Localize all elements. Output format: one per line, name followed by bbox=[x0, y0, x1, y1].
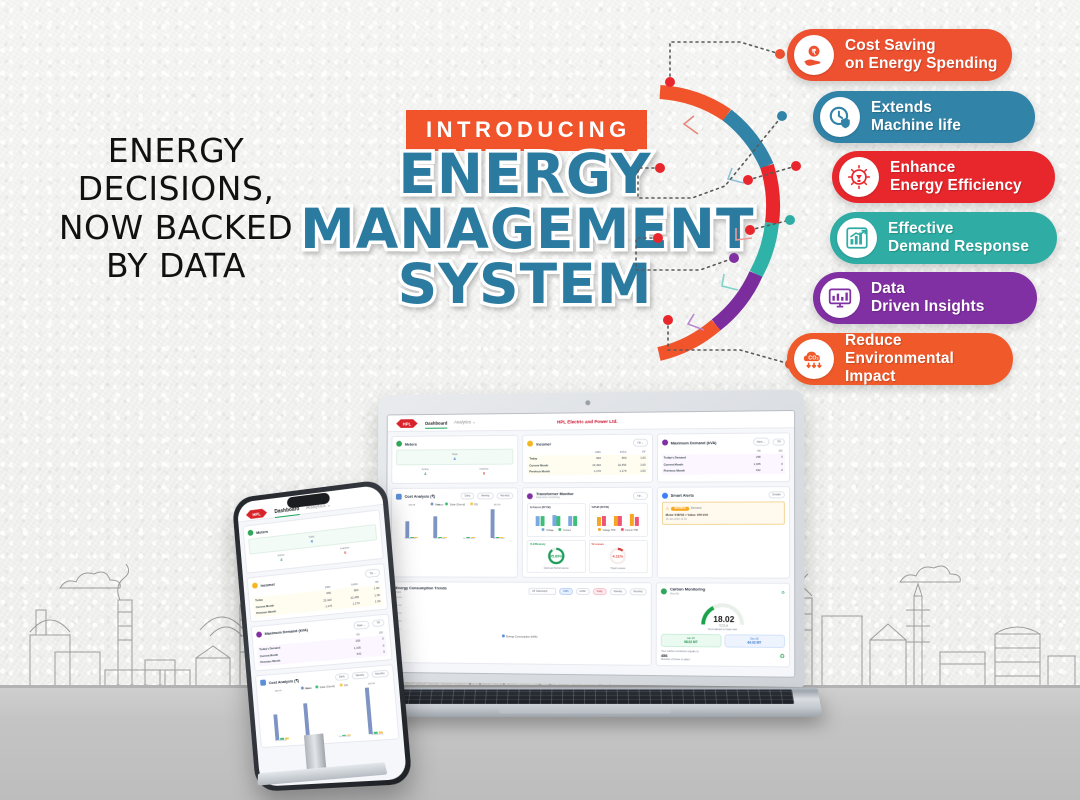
svg-text:HPL: HPL bbox=[403, 421, 412, 426]
card-energy-trends: Energy Consumption Trends 2026 All Gatew… bbox=[390, 581, 652, 666]
meters-inactive-value: 0 bbox=[457, 471, 510, 476]
energy-trends-chart bbox=[402, 598, 441, 632]
smart-alerts-details-button[interactable]: Details bbox=[768, 491, 785, 498]
svg-text:95.89%: 95.89% bbox=[550, 554, 564, 558]
card-maximum-demand: Maximum Demand (kVA) Main ⌄ TR TRDG Toda… bbox=[251, 613, 393, 671]
dashboard-row-1: Meters Total 4 Active 4 bbox=[391, 432, 790, 484]
feature-pill-enhance-energy-efficiency[interactable]: Enhance Energy Efficiency bbox=[832, 151, 1055, 203]
laptop-screen: HPL Dashboard Analytics ⌄ HPL Electric a… bbox=[385, 410, 795, 678]
feature-line-1: Effective bbox=[888, 220, 1029, 238]
nav-analytics[interactable]: Analytics ⌄ bbox=[454, 419, 476, 425]
dashboard-row-3: Energy Consumption Trends 2026 All Gatew… bbox=[390, 581, 790, 667]
svg-text:CO₂: CO₂ bbox=[808, 356, 819, 362]
gauge-shield-icon bbox=[820, 97, 860, 137]
maximum-demand-icon bbox=[662, 439, 668, 445]
card-title: Carbon Monitoring bbox=[670, 587, 705, 592]
card-carbon-monitoring: Carbon Monitoring Monthly ⚙ bbox=[656, 583, 790, 668]
card-meters: Meters Total 4 Active4 Inactive0 bbox=[242, 509, 383, 573]
dashboard-body: Meters Total 4 Active 4 bbox=[386, 428, 794, 672]
phone-device: HPL Dashboard Analytics ⌄ Meters bbox=[240, 488, 400, 788]
transformer-selector[interactable]: TR ⌄ bbox=[633, 492, 648, 500]
alert-message: Motor 548732 > Value: 250 kVA bbox=[666, 512, 781, 516]
md-selector-tr[interactable]: TR bbox=[773, 438, 785, 445]
meters-active: Active 4 bbox=[396, 465, 455, 479]
feature-pill-extends-machine-life[interactable]: Extends Machine life bbox=[813, 91, 1035, 143]
feature-pill-label: Data Driven Insights bbox=[871, 280, 998, 316]
svg-text:18.02: 18.02 bbox=[713, 615, 735, 624]
settings-gear-icon[interactable]: ⚙ bbox=[781, 590, 785, 595]
card-subtitle: Real-time monitoring bbox=[536, 497, 560, 500]
card-incomer: Incomer TR ⌄ kWh kVAh PF bbox=[522, 434, 652, 484]
gateway-select[interactable]: All Gateways bbox=[528, 588, 556, 595]
feature-line-2: on Energy Spending bbox=[845, 55, 998, 73]
laptop-lid: HPL Dashboard Analytics ⌄ HPL Electric a… bbox=[377, 390, 805, 688]
card-title: Incomer bbox=[536, 441, 551, 446]
feature-pill-data-driven-insights[interactable]: Data Driven Insights bbox=[813, 272, 1037, 324]
svg-text:4.11%: 4.11% bbox=[612, 555, 623, 559]
feature-pill-cost-saving[interactable]: ₹ Cost Saving on Energy Spending bbox=[787, 29, 1012, 81]
alert-badge: WARNING bbox=[671, 506, 689, 510]
kfactor-chart: K-Factor (R/Y/B) Voltage bbox=[527, 503, 586, 537]
card-title: Energy Consumption Trends bbox=[395, 585, 446, 590]
headline-line-1: ENERGY bbox=[30, 132, 322, 170]
card-maximum-demand: Maximum Demand (kVA) Main ⌄ TR TR bbox=[657, 432, 790, 482]
page-headline: ENERGY DECISIONS, NOW BACKED BY DATA bbox=[30, 132, 322, 285]
carbon-stat-right: Dec-25 64.02 MT bbox=[724, 635, 785, 649]
tab-daily[interactable]: Daily bbox=[593, 588, 607, 595]
legend-item: DG bbox=[340, 683, 349, 688]
card-title: Cost Analysis (₹) bbox=[269, 677, 300, 684]
trackpad[interactable] bbox=[499, 705, 671, 713]
incomer-selector[interactable]: TR ⌄ bbox=[365, 568, 380, 578]
feature-line-2: Demand Response bbox=[888, 238, 1029, 256]
meters-total-value: 4 bbox=[400, 456, 510, 462]
unit-kvah[interactable]: kVAh bbox=[576, 588, 590, 595]
headline-line-4: BY DATA bbox=[30, 247, 322, 285]
headline-line-2: DECISIONS, bbox=[30, 170, 322, 208]
card-subtitle: Monthly bbox=[670, 592, 679, 595]
laptop-base bbox=[357, 687, 822, 716]
maximum-demand-table: TR DG Today's Demand 258 0 bbox=[662, 449, 785, 475]
connector-dots bbox=[653, 49, 801, 369]
tab-monthly[interactable]: Monthly bbox=[629, 588, 646, 595]
phone-stand bbox=[254, 728, 385, 799]
maximum-demand-icon bbox=[256, 631, 262, 637]
stand-neck bbox=[304, 733, 326, 769]
meters-inactive: Inactive 0 bbox=[455, 465, 514, 479]
smart-alerts-icon bbox=[662, 492, 668, 498]
feature-line-1: Enhance bbox=[890, 159, 1022, 177]
alert-tag: Demand bbox=[691, 507, 701, 510]
feature-pill-label: Effective Demand Response bbox=[888, 220, 1043, 256]
co2-cloud-icon: CO₂ bbox=[794, 339, 834, 379]
company-title: HPL Electric and Power Ltd. bbox=[388, 417, 794, 426]
feature-line-1: Extends bbox=[871, 99, 961, 117]
feature-line-1: Cost Saving bbox=[845, 37, 998, 55]
tab-weekly[interactable]: Weekly bbox=[351, 671, 368, 679]
feature-pill-effective-demand-response[interactable]: Effective Demand Response bbox=[830, 212, 1057, 264]
card-title: Smart Alerts bbox=[671, 493, 694, 498]
md-selector-tr[interactable]: TR bbox=[372, 619, 384, 627]
card-title: Cost Analysis (₹) bbox=[405, 494, 436, 499]
incomer-icon bbox=[527, 441, 533, 447]
nav-dashboard[interactable]: Dashboard bbox=[425, 420, 447, 425]
svg-text:HPL: HPL bbox=[252, 511, 261, 517]
hpl-logo-icon: HPL bbox=[395, 418, 418, 429]
card-title: Maximum Demand (kVA) bbox=[671, 440, 717, 445]
tab-monthly[interactable]: Monthly bbox=[496, 492, 513, 499]
tab-weekly[interactable]: Weekly bbox=[610, 588, 627, 595]
dashboard-app: HPL Dashboard Analytics ⌄ HPL Electric a… bbox=[386, 411, 794, 677]
tab-weekly[interactable]: Weekly bbox=[477, 492, 493, 499]
card-title: Meters bbox=[405, 441, 417, 446]
monitor-chart-icon bbox=[820, 278, 860, 318]
incomer-icon bbox=[252, 582, 258, 588]
card-meters: Meters Total 4 Active 4 bbox=[391, 435, 518, 484]
tab-daily[interactable]: Daily bbox=[461, 492, 475, 499]
carbon-leaf-icon bbox=[661, 589, 667, 595]
feature-line-1: Data bbox=[871, 280, 984, 298]
cost-analysis-chart: 526.78 704.46 922.16 bbox=[396, 508, 514, 538]
laptop-device: HPL Dashboard Analytics ⌄ HPL Electric a… bbox=[360, 392, 820, 752]
tab-daily[interactable]: Daily bbox=[335, 672, 349, 680]
poster-canvas: ENERGY DECISIONS, NOW BACKED BY DATA INT… bbox=[0, 0, 1080, 800]
meters-icon bbox=[247, 530, 253, 537]
efficiency-gauge: % Efficiency 95.89% Optimal Performance bbox=[527, 540, 586, 573]
alert-item[interactable]: ⚠ WARNING Demand Motor 548732 > Value: 2… bbox=[662, 501, 785, 524]
thd-chart: %THD (R/Y/B) Voltage THD bbox=[588, 503, 647, 537]
meters-split: Active 4 Inactive 0 bbox=[396, 465, 514, 479]
alert-time: 15-Jan-2026 12:00 bbox=[666, 517, 781, 520]
feature-line-1: Reduce bbox=[845, 332, 999, 350]
feature-pill-label: Cost Saving on Energy Spending bbox=[845, 37, 1012, 73]
card-cost-analysis: Cost Analysis (₹) Daily Weekly Monthly M… bbox=[391, 487, 519, 578]
svg-text:₹: ₹ bbox=[812, 48, 817, 57]
card-title: Maximum Demand (kVA) bbox=[264, 627, 308, 636]
dashboard-row-2: Cost Analysis (₹) Daily Weekly Monthly M… bbox=[391, 486, 790, 579]
cost-analysis-icon bbox=[260, 680, 266, 686]
feature-line-2: Energy Efficiency bbox=[890, 177, 1022, 195]
bar-group: 526.78 bbox=[399, 508, 425, 538]
bar-group: 704.46 bbox=[427, 508, 454, 538]
carbon-gauge: 18.02 tCO₂e bbox=[696, 599, 749, 628]
table-row: Previous Month 642 0 bbox=[662, 467, 785, 474]
card-smart-alerts: Smart Alerts Details ⚠ WARNING Demand bbox=[656, 486, 790, 579]
legend-item: Solar (Genrd) bbox=[315, 684, 335, 690]
card-title: Incomer bbox=[260, 581, 275, 587]
incomer-table: kWh kVAh PF Today 660 660 1.00 bbox=[527, 450, 647, 476]
bulb-icon bbox=[839, 157, 879, 197]
warning-triangle-icon: ⚠ bbox=[666, 506, 670, 511]
keyboard[interactable] bbox=[386, 689, 795, 704]
legend-item: Energy Consumption (kWh) bbox=[502, 635, 538, 639]
bar-group bbox=[455, 508, 482, 538]
table-row: Previous Month 1,170 1,170 1.00 bbox=[527, 468, 647, 475]
carbon-footer-caption: Number of trees to plant bbox=[661, 658, 699, 661]
feature-line-2: Driven Insights bbox=[871, 298, 984, 316]
carbon-stat-left: Jan-26 98.02 MT bbox=[661, 634, 721, 648]
mobile-body: Meters Total 4 Active4 Inactive0 bbox=[238, 505, 404, 752]
recycle-icon: ♻ bbox=[779, 654, 785, 661]
feature-pill-label: Extends Machine life bbox=[871, 99, 975, 135]
bar-group: 922.16 bbox=[484, 508, 511, 538]
unit-kwh[interactable]: kWh bbox=[559, 588, 572, 595]
bar-chart-arrow-icon bbox=[837, 218, 877, 258]
transformer-icon bbox=[527, 493, 533, 499]
md-selector-main[interactable]: Main ⌄ bbox=[353, 620, 370, 630]
hand-rupee-icon: ₹ bbox=[794, 35, 834, 75]
legend-item: DG bbox=[470, 502, 478, 506]
meters-icon bbox=[396, 441, 402, 447]
headline-line-3: NOW BACKED bbox=[30, 209, 322, 247]
feature-pill-reduce-environmental-impact[interactable]: CO₂ Reduce Environmental Impact bbox=[787, 333, 1013, 385]
gauge-caption: Normalized to base rate bbox=[661, 628, 785, 632]
meters-active-value: 4 bbox=[399, 471, 452, 476]
incomer-selector[interactable]: TR ⌄ bbox=[633, 439, 648, 447]
card-incomer: Incomer TR ⌄ kWhkVAhPF Today6606601.00 C… bbox=[247, 563, 388, 622]
feature-line-2: Environmental Impact bbox=[845, 350, 999, 386]
legend-item: Solar (Genrd) bbox=[445, 502, 465, 506]
tab-monthly[interactable]: Monthly bbox=[371, 669, 389, 677]
card-title: Meters bbox=[256, 528, 268, 534]
losses-gauge: % Losses 4.11% Total Losses bbox=[588, 540, 647, 573]
meters-total: Total 4 bbox=[396, 449, 514, 466]
webcam-icon bbox=[585, 400, 590, 405]
feature-line-2: Machine life bbox=[871, 117, 961, 135]
md-selector-main[interactable]: Main ⌄ bbox=[753, 438, 770, 446]
card-transformer-monitor: Transformer Monitor Real-time monitoring… bbox=[522, 487, 653, 579]
feature-pill-label: Reduce Environmental Impact bbox=[845, 332, 1013, 386]
cost-analysis-x-labels: 13-Jan-2026 14-Jan-2026 15-Jan-2026 16-J… bbox=[396, 538, 514, 540]
feature-pill-label: Enhance Energy Efficiency bbox=[890, 159, 1036, 195]
